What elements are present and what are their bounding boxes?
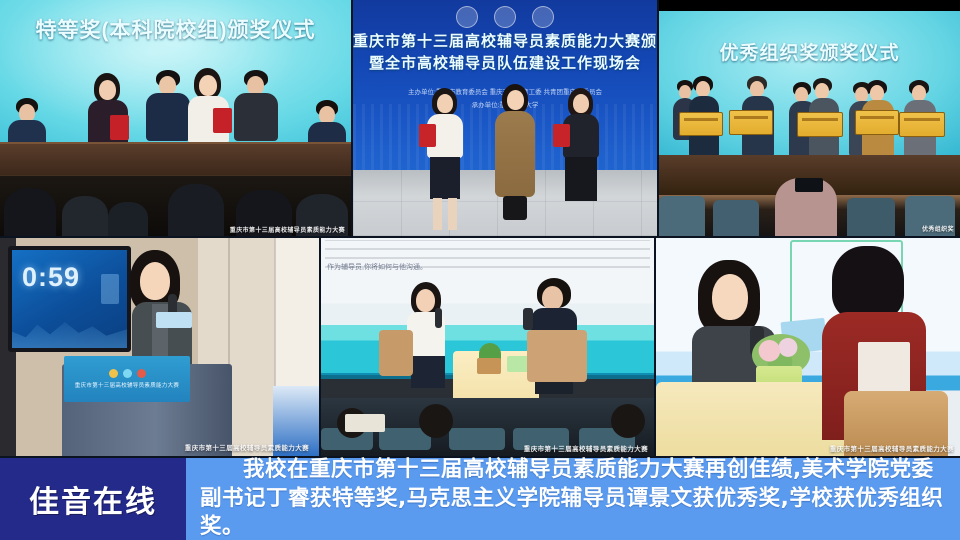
backdrop-title-line2: 暨全市高校辅导员队伍建设工作现场会 <box>353 52 657 73</box>
watermark-bottom-left: 重庆市第十三届高校辅导员素质能力大赛 <box>185 442 309 452</box>
logo-icon <box>456 6 478 28</box>
watermark-bottom-middle: 重庆市第十三届高校辅导员素质能力大赛 <box>524 443 648 453</box>
award-plaque <box>855 110 899 135</box>
podium-sign: 重庆市第十三届高校辅导员素质能力大赛 <box>64 356 190 402</box>
countdown-display: 0:59 <box>8 246 131 352</box>
award-plaque <box>899 112 945 137</box>
backdrop-title-line1: 重庆市第十三届高校辅导员素质能力大赛颁奖典礼 <box>353 30 657 51</box>
photo-top-left-special-prize[interactable]: 特等奖(本科院校组)颁奖仪式 <box>0 0 351 236</box>
photo-bottom-right-closeup[interactable]: 重庆市第十三届高校辅导员素质能力大赛 <box>656 238 960 456</box>
smartphone <box>795 178 823 192</box>
watermark-top-left: 重庆市第十三届高校辅导员素质能力大赛 <box>230 225 345 234</box>
news-banner: 佳音在线 我校在重庆市第十三届高校辅导员素质能力大赛再创佳绩,美术学院党委副书记… <box>0 458 960 540</box>
watermark-top-right: 优秀组织奖 <box>922 224 954 233</box>
microphone <box>435 308 442 328</box>
slide-caption: 作为辅导员,你将如何与他沟通。 <box>327 262 427 272</box>
award-plaque <box>679 112 723 136</box>
photo-bottom-left-podium[interactable]: 0:59 重庆市第十三届高校辅导员素质能力大赛 重庆 <box>0 238 319 456</box>
logo-icon <box>532 6 554 28</box>
scene: 0:59 重庆市第十三届高校辅导员素质能力大赛 重庆 <box>0 238 319 456</box>
logo-icon <box>494 6 516 28</box>
photo-top-middle-group[interactable]: 重庆市第十三届高校辅导员素质能力大赛颁奖典礼 暨全市高校辅导员队伍建设工作现场会… <box>353 0 657 236</box>
podium-logo-dots <box>109 369 146 378</box>
scene: 作为辅导员,你将如何与他沟通。 <box>321 238 654 456</box>
scene: 重庆市第十三届高校辅导员素质能力大赛颁奖典礼 暨全市高校辅导员队伍建设工作现场会… <box>353 0 657 236</box>
headline-text: 我校在重庆市第十三届高校辅导员素质能力大赛再创佳绩,美术学院党委副书记丁睿获特等… <box>200 456 950 540</box>
red-certificate <box>553 124 570 147</box>
photo-top-right-organization-award[interactable]: 优秀组织奖颁奖仪式 <box>659 0 960 236</box>
countdown-timer: 0:59 <box>22 262 80 293</box>
podium-sign-text: 重庆市第十三届高校辅导员素质能力大赛 <box>75 381 179 389</box>
overlay-title-top-right: 优秀组织奖颁奖仪式 <box>659 38 960 65</box>
scene: 优秀组织奖颁奖仪式 <box>659 0 960 236</box>
overlay-title-top-left: 特等奖(本科院校组)颁奖仪式 <box>0 14 351 44</box>
chair <box>379 330 413 376</box>
microphone <box>523 308 533 330</box>
scene: 重庆市第十三届高校辅导员素质能力大赛 <box>656 238 960 456</box>
letterbox-bar <box>659 0 960 11</box>
red-certificate <box>419 124 436 147</box>
plant-pot <box>477 358 501 374</box>
scene: 特等奖(本科院校组)颁奖仪式 <box>0 0 351 236</box>
award-plaque <box>729 110 773 135</box>
waveform-graphic <box>12 312 127 348</box>
brand-label: 佳音在线 <box>29 477 157 521</box>
photo-bottom-middle-interview[interactable]: 作为辅导员,你将如何与他沟通。 <box>321 238 654 456</box>
organizer-logos <box>353 6 657 28</box>
red-certificate <box>110 115 129 140</box>
brand-badge[interactable]: 佳音在线 <box>0 458 186 540</box>
chair <box>527 330 587 382</box>
photo-collage-page: 特等奖(本科院校组)颁奖仪式 <box>0 0 960 540</box>
red-certificate <box>213 108 232 133</box>
headline-area: 我校在重庆市第十三届高校辅导员素质能力大赛再创佳绩,美术学院党委副书记丁睿获特等… <box>186 458 960 540</box>
tablet-device <box>345 414 385 432</box>
name-badge <box>156 312 192 328</box>
award-plaque <box>797 112 843 137</box>
watermark-bottom-right: 重庆市第十三届高校辅导员素质能力大赛 <box>830 443 954 453</box>
